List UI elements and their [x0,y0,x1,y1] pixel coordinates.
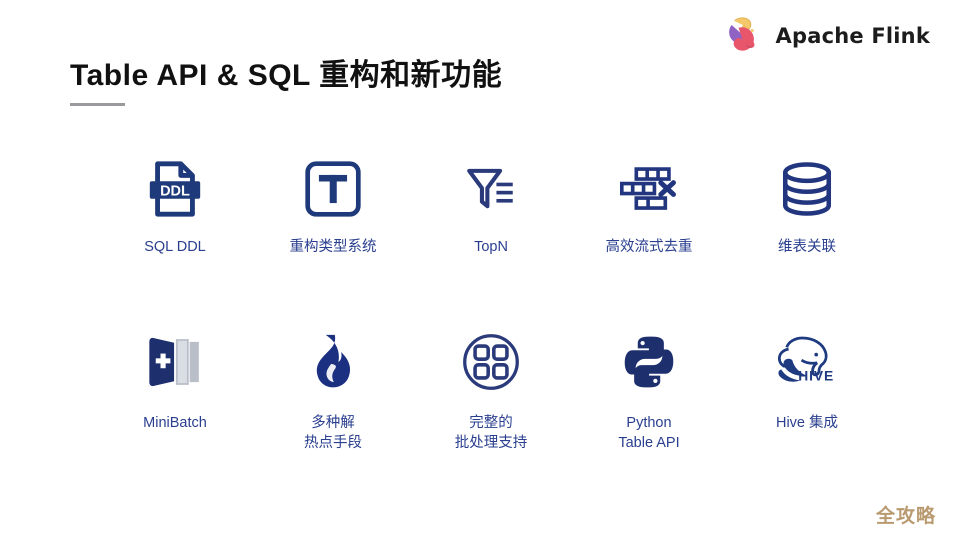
stacked-cards-plus-icon [130,320,220,404]
svg-text:HIVE: HIVE [798,367,834,383]
ddl-document-icon: DDL [130,150,220,228]
feature-item-hotspot[interactable]: 多种解 热点手段 [254,320,412,490]
feature-label: 完整的 批处理支持 [455,414,528,453]
feature-label: TopN [474,238,508,258]
feature-label: Hive 集成 [776,414,838,434]
watermark: 全攻略 [876,501,936,528]
feature-label: MiniBatch [143,414,207,434]
feature-label: SQL DDL [144,238,206,258]
feature-item-dedup[interactable]: 高效流式去重 [570,150,728,320]
database-cylinder-icon [762,150,852,228]
funnel-filter-icon [446,150,536,228]
page-title: Table API & SQL 重构和新功能 [70,50,502,94]
feature-label: 多种解 热点手段 [304,414,362,453]
feature-label: Python Table API [618,414,679,453]
feature-grid: DDL SQL DDL 重构类型系统 [96,150,886,490]
feature-item-python-api[interactable]: Python Table API [570,320,728,490]
feature-item-dim-table-join[interactable]: 维表关联 [728,150,886,320]
feature-item-minibatch[interactable]: MiniBatch [96,320,254,490]
apache-flink-brand: Apache Flink [722,14,930,58]
hive-elephant-icon: HIVE [762,320,852,404]
title-underline-rule [70,103,125,106]
feature-label: 重构类型系统 [290,238,377,258]
feature-label: 高效流式去重 [606,238,693,258]
feature-item-hive[interactable]: HIVE Hive 集成 [728,320,886,490]
circle-grid-icon [446,320,536,404]
flame-icon [288,320,378,404]
feature-label: 维表关联 [778,238,836,258]
feature-item-type-system[interactable]: 重构类型系统 [254,150,412,320]
rows-dedup-x-icon [604,150,694,228]
feature-item-sql-ddl[interactable]: DDL SQL DDL [96,150,254,320]
brand-name: Apache Flink [776,26,930,47]
feature-item-topn[interactable]: TopN [412,150,570,320]
feature-item-batch-support[interactable]: 完整的 批处理支持 [412,320,570,490]
slide: Apache Flink Table API & SQL 重构和新功能 DDL … [0,0,960,540]
type-t-square-icon [288,150,378,228]
python-logo-icon [604,320,694,404]
svg-text:DDL: DDL [160,183,190,199]
flink-squirrel-icon [722,14,766,58]
